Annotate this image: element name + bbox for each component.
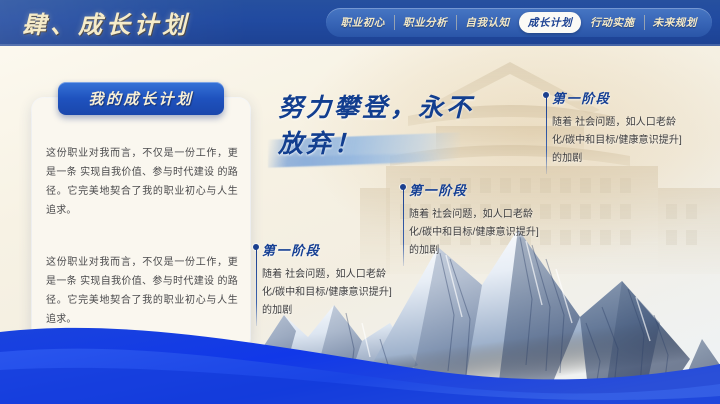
- card-body: 这份职业对我而言，不仅是一份工作，更是一条 实现自我价值、参与时代建设 的路径。…: [46, 144, 238, 329]
- stage-block-3: 第一阶段 随着 社会问题，如人口老龄化/碳中和目标/健康意识提升] 的加剧: [552, 88, 684, 168]
- stage-text-3: 随着 社会问题，如人口老龄化/碳中和目标/健康意识提升] 的加剧: [552, 114, 684, 168]
- stage-text-2: 随着 社会问题，如人口老龄化/碳中和目标/健康意识提升] 的加剧: [409, 206, 541, 260]
- card-paragraph-1: 这份职业对我而言，不仅是一份工作，更是一条 实现自我价值、参与时代建设 的路径。…: [46, 144, 238, 220]
- stage-rail-2: [400, 184, 409, 266]
- card-title-badge[interactable]: 我的成长计划: [58, 82, 224, 115]
- headline-line-2: 放弃！: [278, 126, 488, 162]
- stage-title-3: 第一阶段: [552, 88, 684, 107]
- stage-text-1: 随着 社会问题，如人口老龄化/碳中和目标/健康意识提升] 的加剧: [262, 266, 394, 320]
- stage-block-2: 第一阶段 随着 社会问题，如人口老龄化/碳中和目标/健康意识提升] 的加剧: [409, 180, 541, 260]
- page-title: 肆、成长计划: [22, 5, 190, 40]
- tab-ziwo-renzhi[interactable]: 自我认知: [456, 12, 518, 33]
- tab-xingdong-shishi[interactable]: 行动实施: [581, 12, 643, 33]
- growth-plan-card: 我的成长计划 这份职业对我而言，不仅是一份工作，更是一条 实现自我价值、参与时代…: [32, 98, 250, 350]
- tab-weilai-guihua[interactable]: 未来规划: [644, 12, 706, 33]
- stage-rail-3: [543, 92, 552, 174]
- tab-zhiye-fenxi[interactable]: 职业分析: [394, 12, 456, 33]
- stage-block-1: 第一阶段 随着 社会问题，如人口老龄化/碳中和目标/健康意识提升] 的加剧: [262, 240, 394, 320]
- stage-line-icon: [403, 189, 404, 266]
- stage-rail-1: [253, 244, 262, 326]
- stage-line-icon: [546, 97, 547, 174]
- tab-zhiye-chuxin[interactable]: 职业初心: [332, 12, 394, 33]
- section-nav[interactable]: 职业初心 职业分析 自我认知 成长计划 行动实施 未来规划: [326, 8, 712, 37]
- slide-header-bar: 肆、成长计划 职业初心 职业分析 自我认知 成长计划 行动实施 未来规划: [0, 0, 720, 46]
- stage-line-icon: [256, 249, 257, 326]
- stage-title-1: 第一阶段: [262, 240, 394, 259]
- stage-title-2: 第一阶段: [409, 180, 541, 199]
- headline-line-1: 努力攀登，永不: [278, 90, 488, 126]
- slide-headline: 努力攀登，永不 放弃！: [278, 90, 488, 162]
- presentation-slide: 肆、成长计划 职业初心 职业分析 自我认知 成长计划 行动实施 未来规划: [0, 0, 720, 404]
- tab-chengzhang-jihua[interactable]: 成长计划: [519, 12, 581, 33]
- card-paragraph-2: 这份职业对我而言，不仅是一份工作，更是一条 实现自我价值、参与时代建设 的路径。…: [46, 253, 238, 329]
